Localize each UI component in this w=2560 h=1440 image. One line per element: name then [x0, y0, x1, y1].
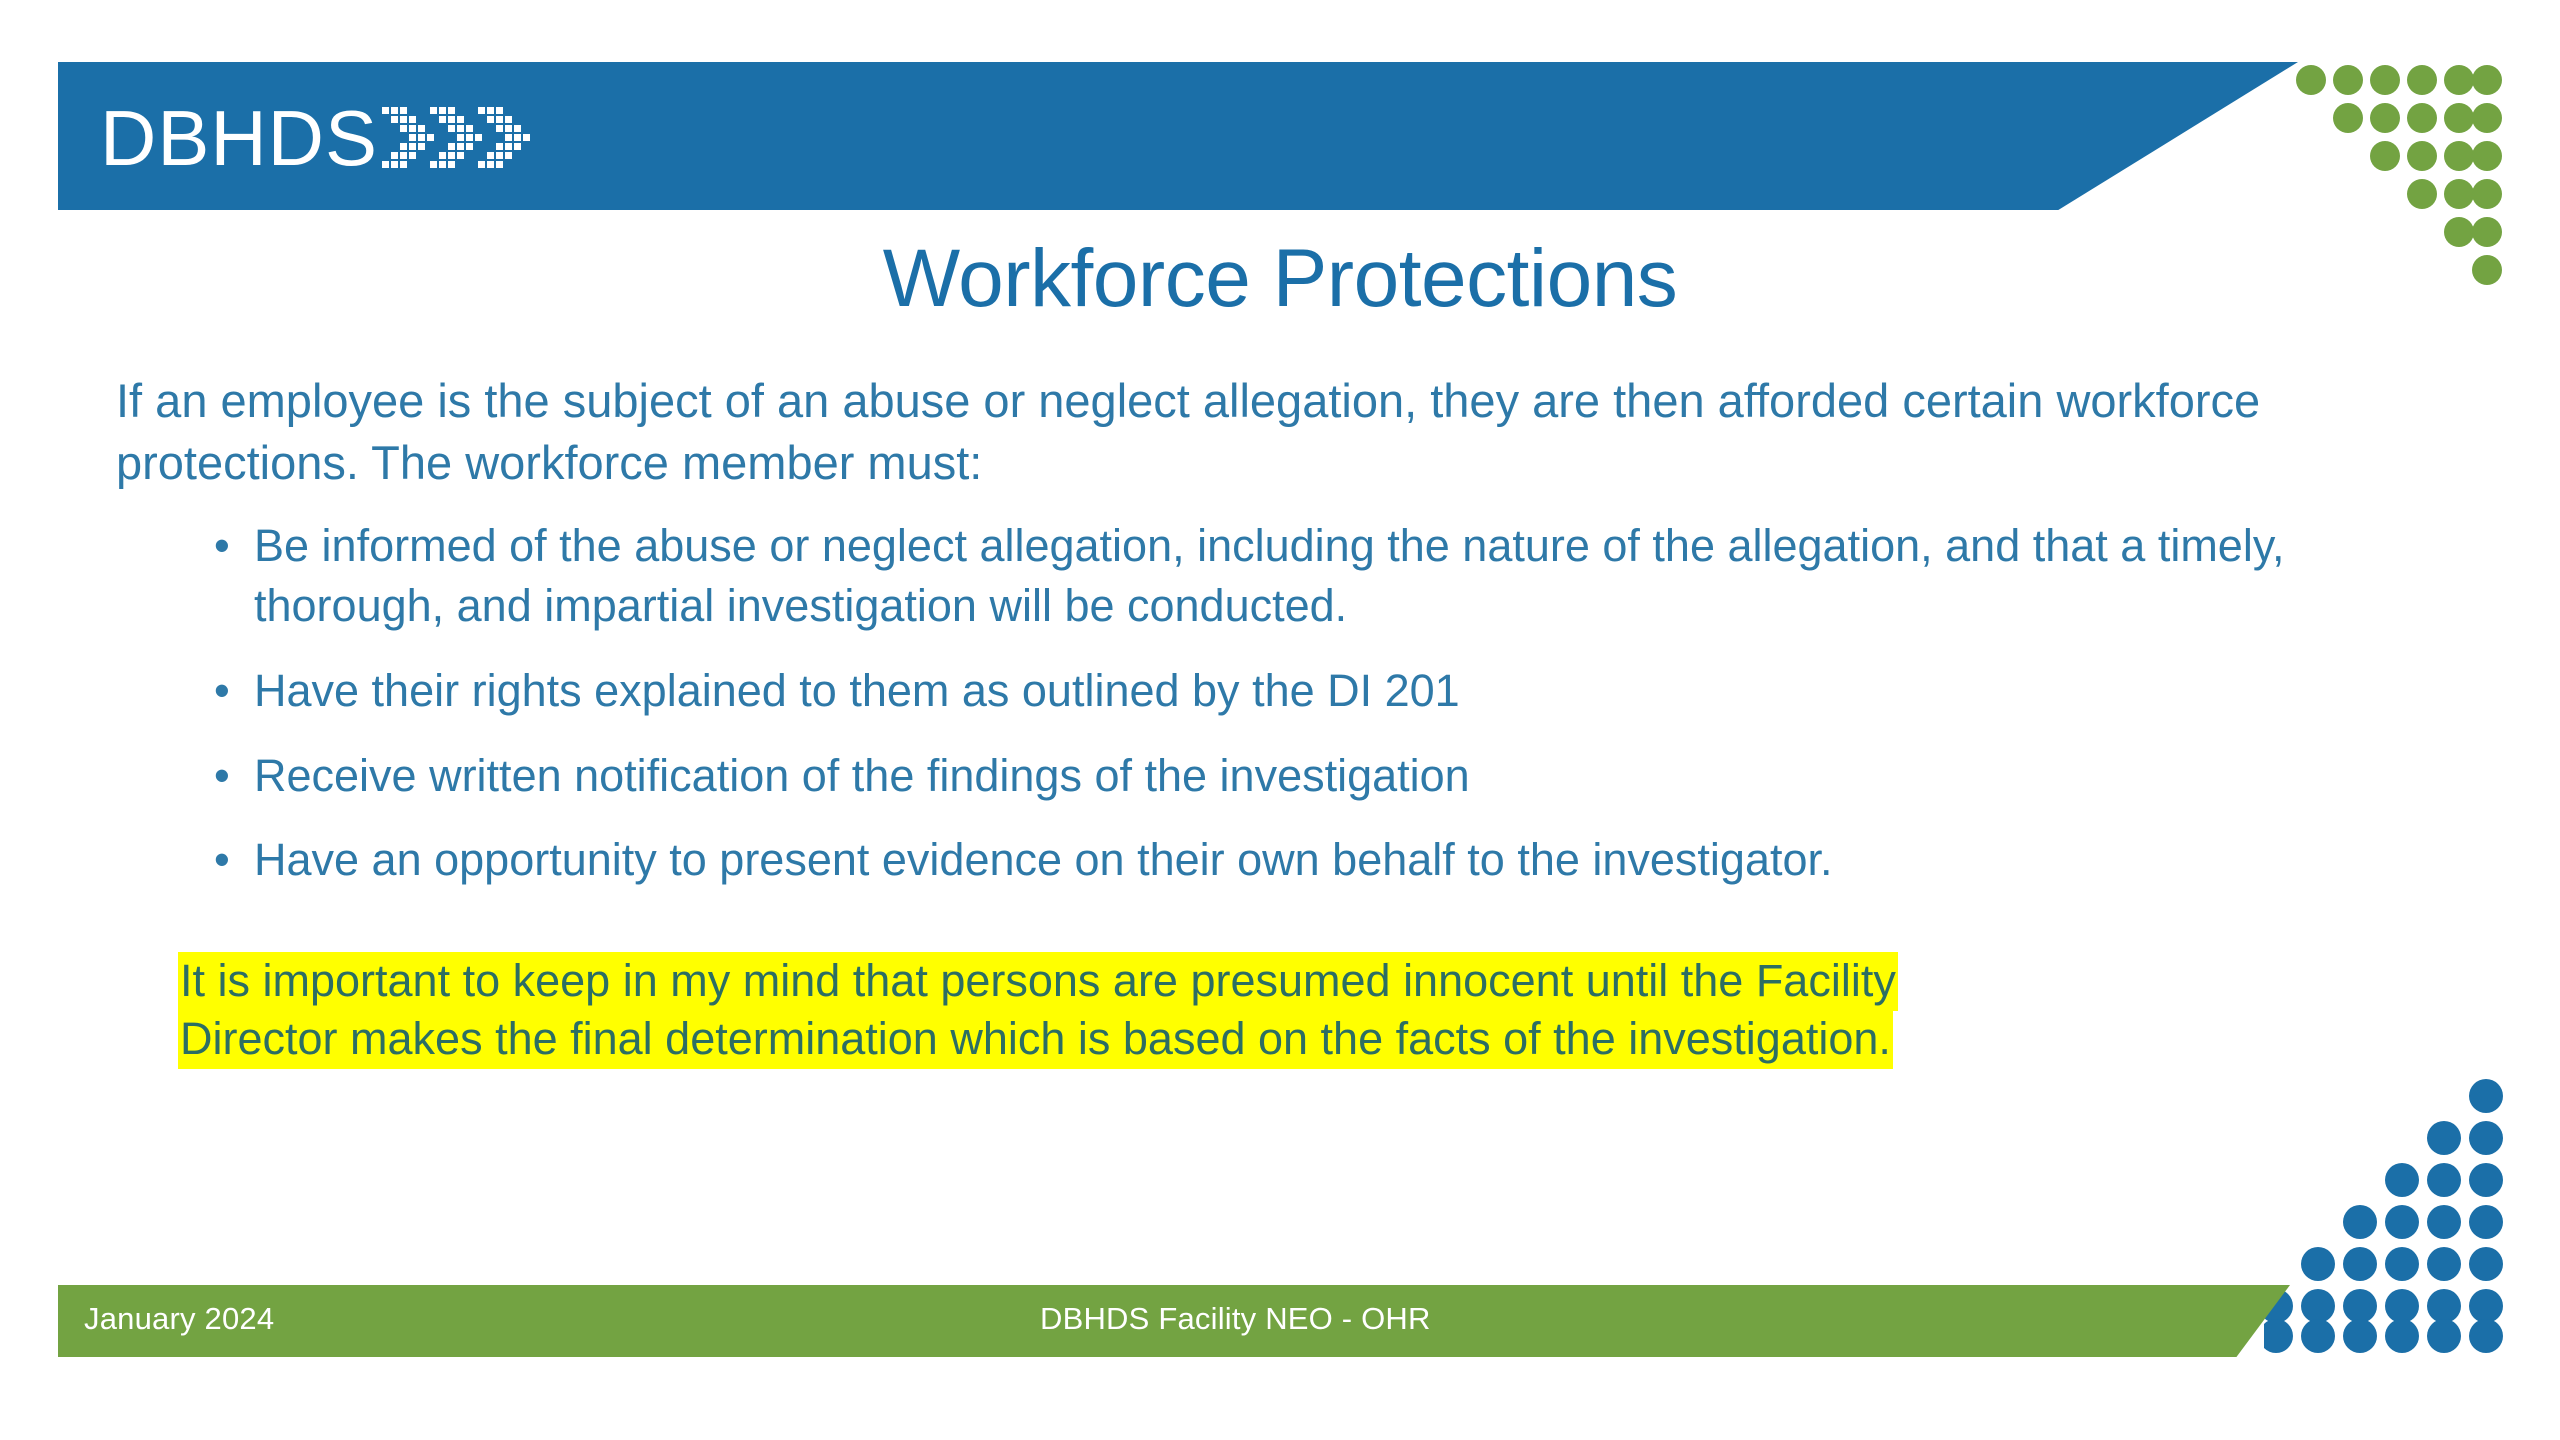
workforce-protections-list: • Be informed of the abuse or neglect al… [116, 516, 2436, 890]
chevrons-icon [382, 99, 532, 177]
bullet-dot-icon: • [214, 661, 230, 721]
dbhds-logo: DBHDS [100, 92, 532, 184]
bullet-dot-icon: • [214, 516, 230, 576]
intro-paragraph: If an employee is the subject of an abus… [116, 370, 2286, 494]
highlighted-note-line: Director makes the final determination w… [178, 1010, 2358, 1068]
list-item-label: Be informed of the abuse or neglect alle… [254, 520, 2285, 631]
highlighted-note: It is important to keep in my mind that … [178, 952, 2358, 1068]
list-item-label: Have an opportunity to present evidence … [254, 834, 1833, 885]
body-content: If an employee is the subject of an abus… [116, 370, 2436, 915]
list-item: • Be informed of the abuse or neglect al… [210, 516, 2436, 636]
list-item: • Receive written notification of the fi… [210, 746, 2436, 806]
highlighted-note-line-1-text: It is important to keep in my mind that … [178, 952, 1898, 1011]
blue-dot-pattern-icon [2264, 1074, 2504, 1354]
page-title: Workforce Protections [0, 236, 2560, 322]
list-item: • Have their rights explained to them as… [210, 661, 2436, 721]
highlighted-note-line-2-text: Director makes the final determination w… [178, 1010, 1893, 1069]
dbhds-logo-text: DBHDS [100, 99, 378, 177]
list-item-label: Receive written notification of the find… [254, 750, 1470, 801]
slide: DBHDS [0, 0, 2560, 1440]
list-item: • Have an opportunity to present evidenc… [210, 830, 2436, 890]
bullet-dot-icon: • [214, 830, 230, 890]
bullet-dot-icon: • [214, 746, 230, 806]
highlighted-note-line: It is important to keep in my mind that … [178, 952, 2358, 1010]
footer-date: January 2024 [84, 1301, 274, 1337]
footer-course-label: DBHDS Facility NEO - OHR [1040, 1301, 1431, 1337]
list-item-label: Have their rights explained to them as o… [254, 665, 1460, 716]
